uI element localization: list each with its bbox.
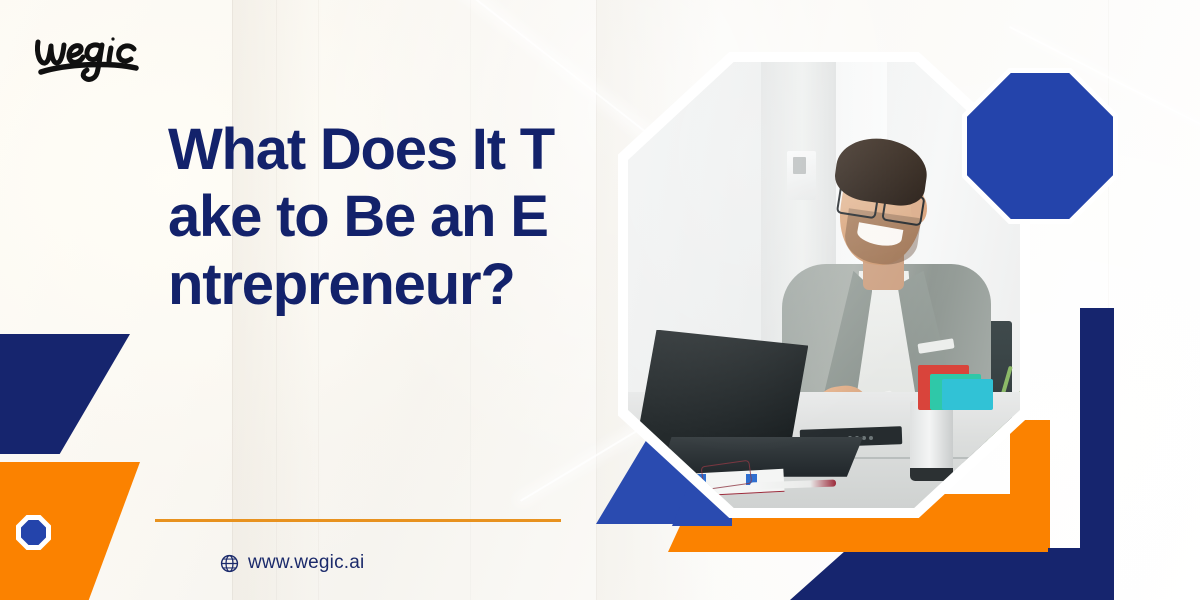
hero-photo-octagon	[628, 62, 1020, 508]
photo-pen-cup	[910, 401, 953, 481]
mini-blue-octagon-fill	[21, 520, 46, 545]
hero-photo-scene	[628, 62, 1020, 508]
mini-blue-octagon	[16, 515, 51, 550]
photo-vent-dot	[869, 436, 873, 440]
wegic-logo[interactable]	[32, 28, 172, 84]
blog-cover-canvas: What Does It Take to Be an Entrepreneur?…	[0, 0, 1200, 600]
globe-icon	[220, 554, 239, 573]
large-blue-octagon-fill	[967, 73, 1113, 219]
website-url-text: www.wegic.ai	[248, 552, 364, 574]
orange-divider	[155, 519, 561, 522]
background-seam-5	[596, 0, 597, 600]
photo-cup-pen	[942, 379, 993, 410]
page-title: What Does It Take to Be an Entrepreneur?	[168, 116, 568, 318]
large-blue-octagon	[962, 68, 1118, 224]
website-url[interactable]: www.wegic.ai	[220, 552, 364, 574]
